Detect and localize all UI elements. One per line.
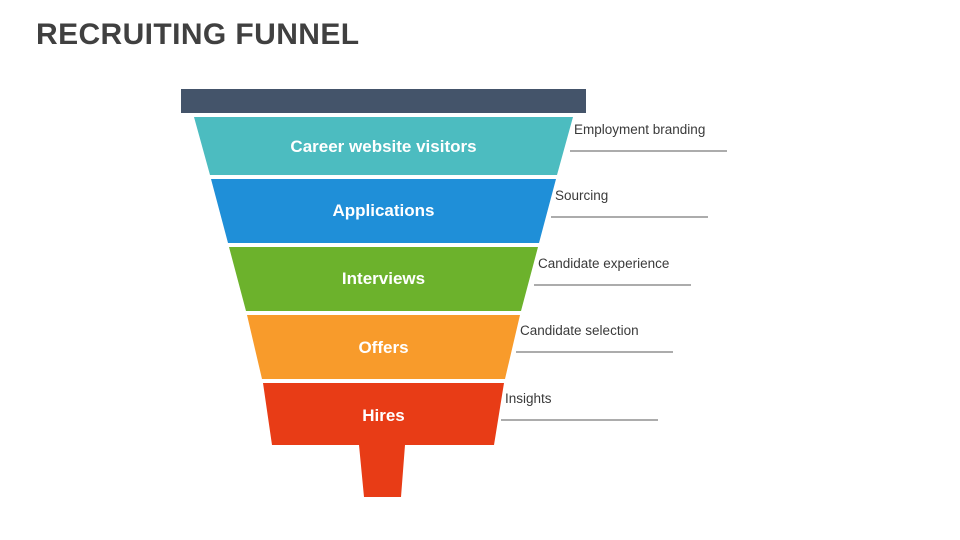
callout-candidate-selection[interactable]: Candidate selection bbox=[520, 323, 639, 338]
callout-label-insights: Insights bbox=[505, 391, 552, 406]
funnel-band-interviews[interactable] bbox=[229, 247, 538, 311]
slide-canvas: RECRUITING FUNNEL Career website visitor… bbox=[0, 0, 960, 540]
callout-insights[interactable]: Insights bbox=[505, 391, 552, 406]
funnel-band-hires[interactable] bbox=[263, 383, 504, 497]
funnel-band-offers[interactable] bbox=[247, 315, 520, 379]
funnel-band-applications[interactable] bbox=[211, 179, 556, 243]
funnel-cap bbox=[181, 89, 586, 113]
callout-employment-branding[interactable]: Employment branding bbox=[574, 122, 705, 137]
funnel-band-career-website-visitors[interactable] bbox=[194, 117, 573, 175]
callout-label-sourcing: Sourcing bbox=[555, 188, 608, 203]
callout-label-candidate-experience: Candidate experience bbox=[538, 256, 669, 271]
funnel-graphic bbox=[0, 0, 960, 540]
callout-candidate-experience[interactable]: Candidate experience bbox=[538, 256, 669, 271]
callout-sourcing[interactable]: Sourcing bbox=[555, 188, 608, 203]
callout-label-candidate-selection: Candidate selection bbox=[520, 323, 639, 338]
callout-label-employment-branding: Employment branding bbox=[574, 122, 705, 137]
